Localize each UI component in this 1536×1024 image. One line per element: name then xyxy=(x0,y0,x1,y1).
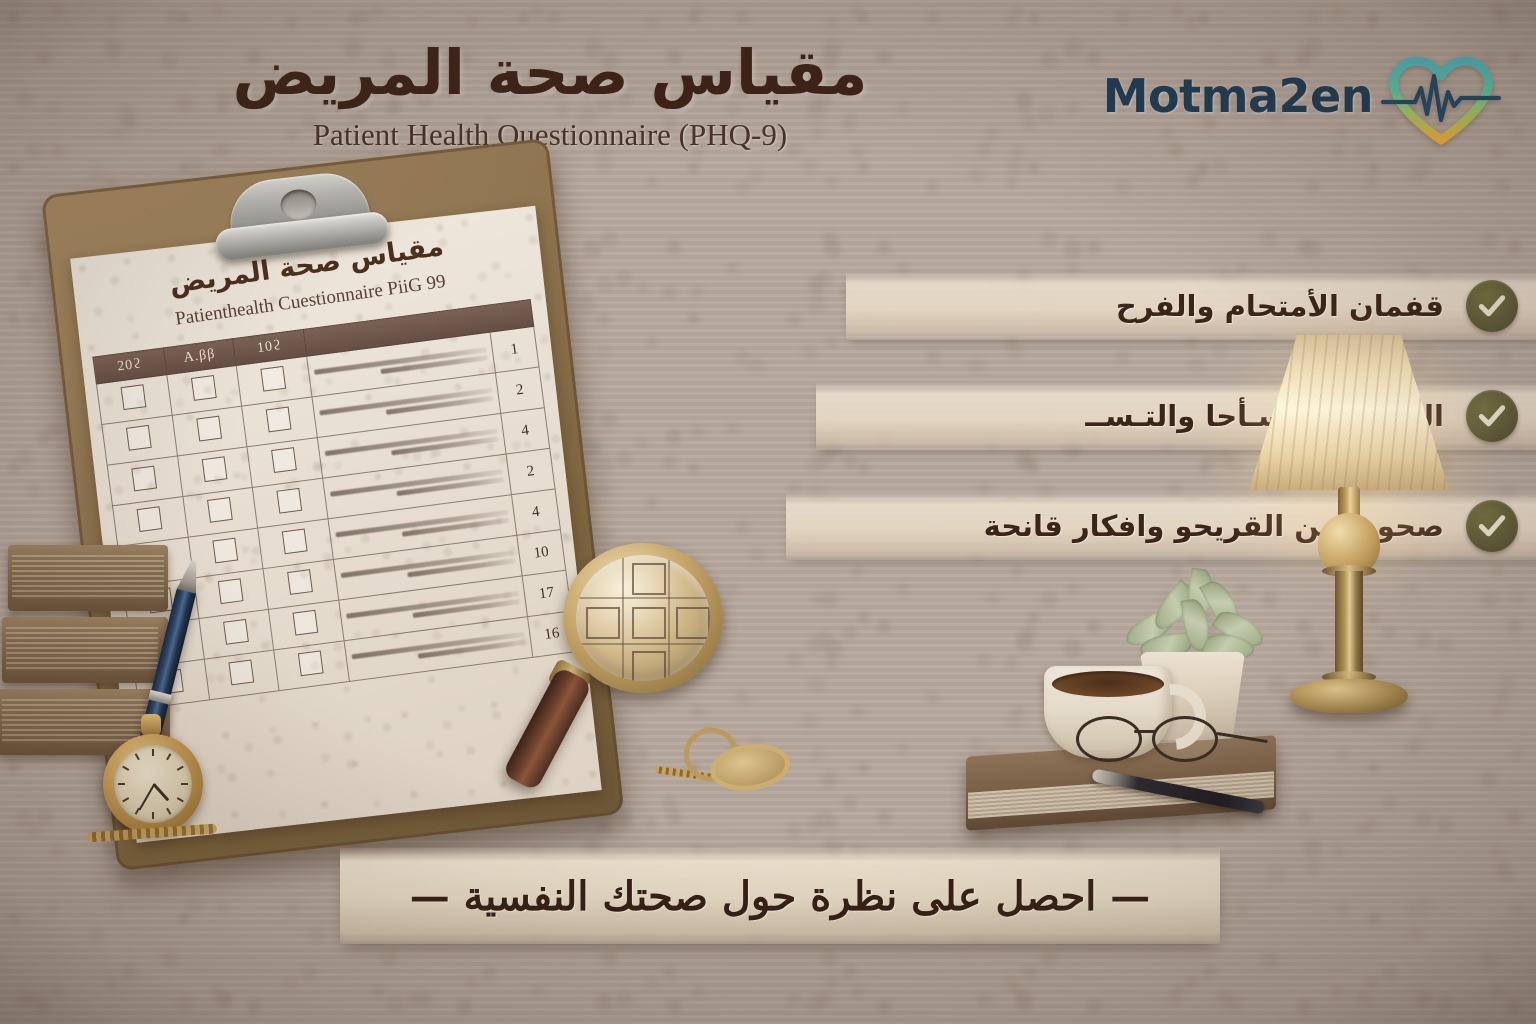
vignette-overlay xyxy=(0,0,1536,1024)
poster-canvas: مقياس صحة المريض Patient Health Question… xyxy=(0,0,1536,1024)
